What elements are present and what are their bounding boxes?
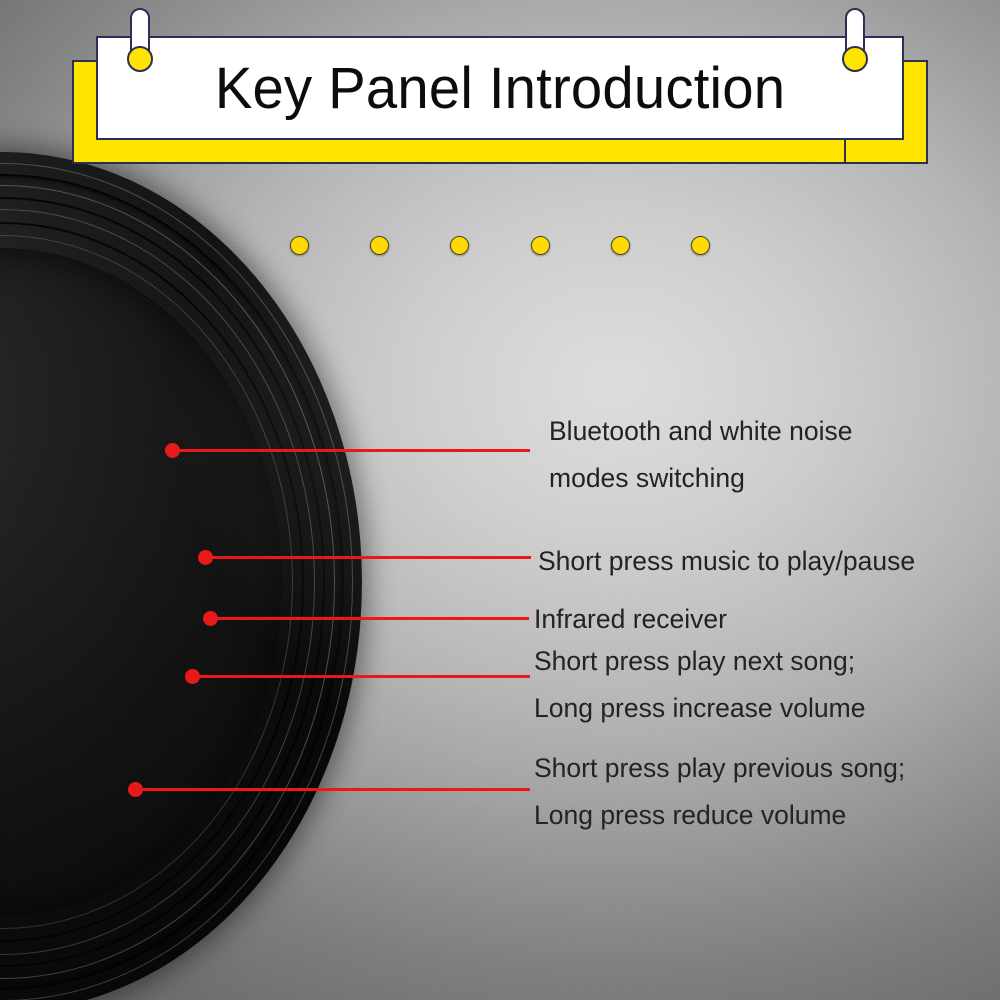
callout-dot-prev <box>128 782 143 797</box>
infographic-page: BT/WN ▷▷| + |◁◁ − <box>0 0 1000 1000</box>
deco-dot-6 <box>691 236 710 255</box>
callout-text-bt-wn: Bluetooth and white noise modes switchin… <box>549 408 853 502</box>
callout-next-line-1: Short press play next song; <box>534 638 865 685</box>
banner-pin-right-icon <box>842 8 868 84</box>
deco-dot-5 <box>611 236 630 255</box>
callout-infrared-line-1: Infrared receiver <box>534 596 727 643</box>
banner-pin-left-icon <box>127 8 153 84</box>
deco-dot-4 <box>531 236 550 255</box>
callout-text-infrared: Infrared receiver <box>534 596 727 643</box>
callout-dot-play-pause <box>198 550 213 565</box>
callout-bt-wn-line-1: Bluetooth and white noise <box>549 408 853 455</box>
page-title: Key Panel Introduction <box>215 55 785 122</box>
deco-dot-1 <box>290 236 309 255</box>
callout-dot-infrared <box>203 611 218 626</box>
callout-text-play-pause: Short press music to play/pause <box>538 538 915 585</box>
title-box: Key Panel Introduction <box>96 36 904 140</box>
bluetooth-speaker-photo: BT/WN ▷▷| + |◁◁ − <box>0 152 362 1000</box>
callout-line-play-pause <box>211 556 531 559</box>
callout-prev-line-1: Short press play previous song; <box>534 745 905 792</box>
title-banner: Key Panel Introduction <box>72 36 928 164</box>
callout-bt-wn-line-2: modes switching <box>549 455 853 502</box>
callout-text-prev: Short press play previous song; Long pre… <box>534 745 905 839</box>
callout-line-infrared <box>216 617 529 620</box>
callout-dot-next <box>185 669 200 684</box>
callout-play-pause-line-1: Short press music to play/pause <box>538 538 915 585</box>
deco-dot-2 <box>370 236 389 255</box>
callout-dot-bt-wn <box>165 443 180 458</box>
callout-line-next <box>198 675 530 678</box>
callout-text-next: Short press play next song; Long press i… <box>534 638 865 732</box>
callout-line-prev <box>141 788 530 791</box>
decorative-dot-row <box>290 234 710 256</box>
deco-dot-3 <box>450 236 469 255</box>
callout-prev-line-2: Long press reduce volume <box>534 792 905 839</box>
callout-line-bt-wn <box>178 449 530 452</box>
callout-next-line-2: Long press increase volume <box>534 685 865 732</box>
